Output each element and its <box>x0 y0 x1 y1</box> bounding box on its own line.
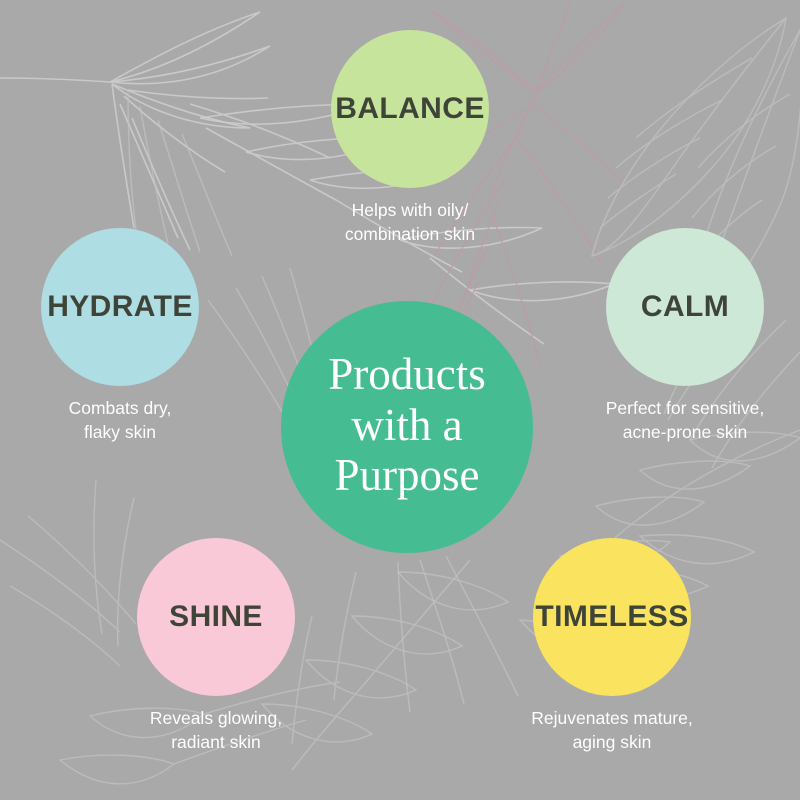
shine-label: SHINE <box>169 602 263 632</box>
center-bubble: Products with a Purpose <box>281 301 533 553</box>
node-calm[interactable]: CALM Perfect for sensitive, acne-prone s… <box>585 228 785 444</box>
skincare-benefits-infographic: Products with a Purpose BALANCE Helps wi… <box>0 0 800 800</box>
calm-caption: Perfect for sensitive, acne-prone skin <box>606 397 765 444</box>
timeless-caption: Rejuvenates mature, aging skin <box>531 707 692 754</box>
hydrate-label: HYDRATE <box>47 292 193 322</box>
leaf-fern-top-left <box>0 12 270 250</box>
hydrate-caption: Combats dry, flaky skin <box>69 397 172 444</box>
hydrate-bubble[interactable]: HYDRATE <box>41 228 199 386</box>
calm-bubble[interactable]: CALM <box>606 228 764 386</box>
balance-caption: Helps with oily/ combination skin <box>345 199 475 246</box>
leaf-spray-center-bottom <box>398 556 518 712</box>
node-shine[interactable]: SHINE Reveals glowing, radiant skin <box>116 538 316 754</box>
page-title: Products with a Purpose <box>328 349 486 504</box>
calm-label: CALM <box>641 292 729 322</box>
node-balance[interactable]: BALANCE Helps with oily/ combination ski… <box>310 30 510 246</box>
shine-caption: Reveals glowing, radiant skin <box>150 707 282 754</box>
shine-bubble[interactable]: SHINE <box>137 538 295 696</box>
timeless-bubble[interactable]: TIMELESS <box>533 538 691 696</box>
center-node: Products with a Purpose <box>281 301 533 553</box>
node-hydrate[interactable]: HYDRATE Combats dry, flaky skin <box>20 228 220 444</box>
balance-bubble[interactable]: BALANCE <box>331 30 489 188</box>
node-timeless[interactable]: TIMELESS Rejuvenates mature, aging skin <box>512 538 712 754</box>
timeless-label: TIMELESS <box>535 602 688 632</box>
balance-label: BALANCE <box>335 94 484 124</box>
leaf-veined-top-right <box>592 18 786 256</box>
